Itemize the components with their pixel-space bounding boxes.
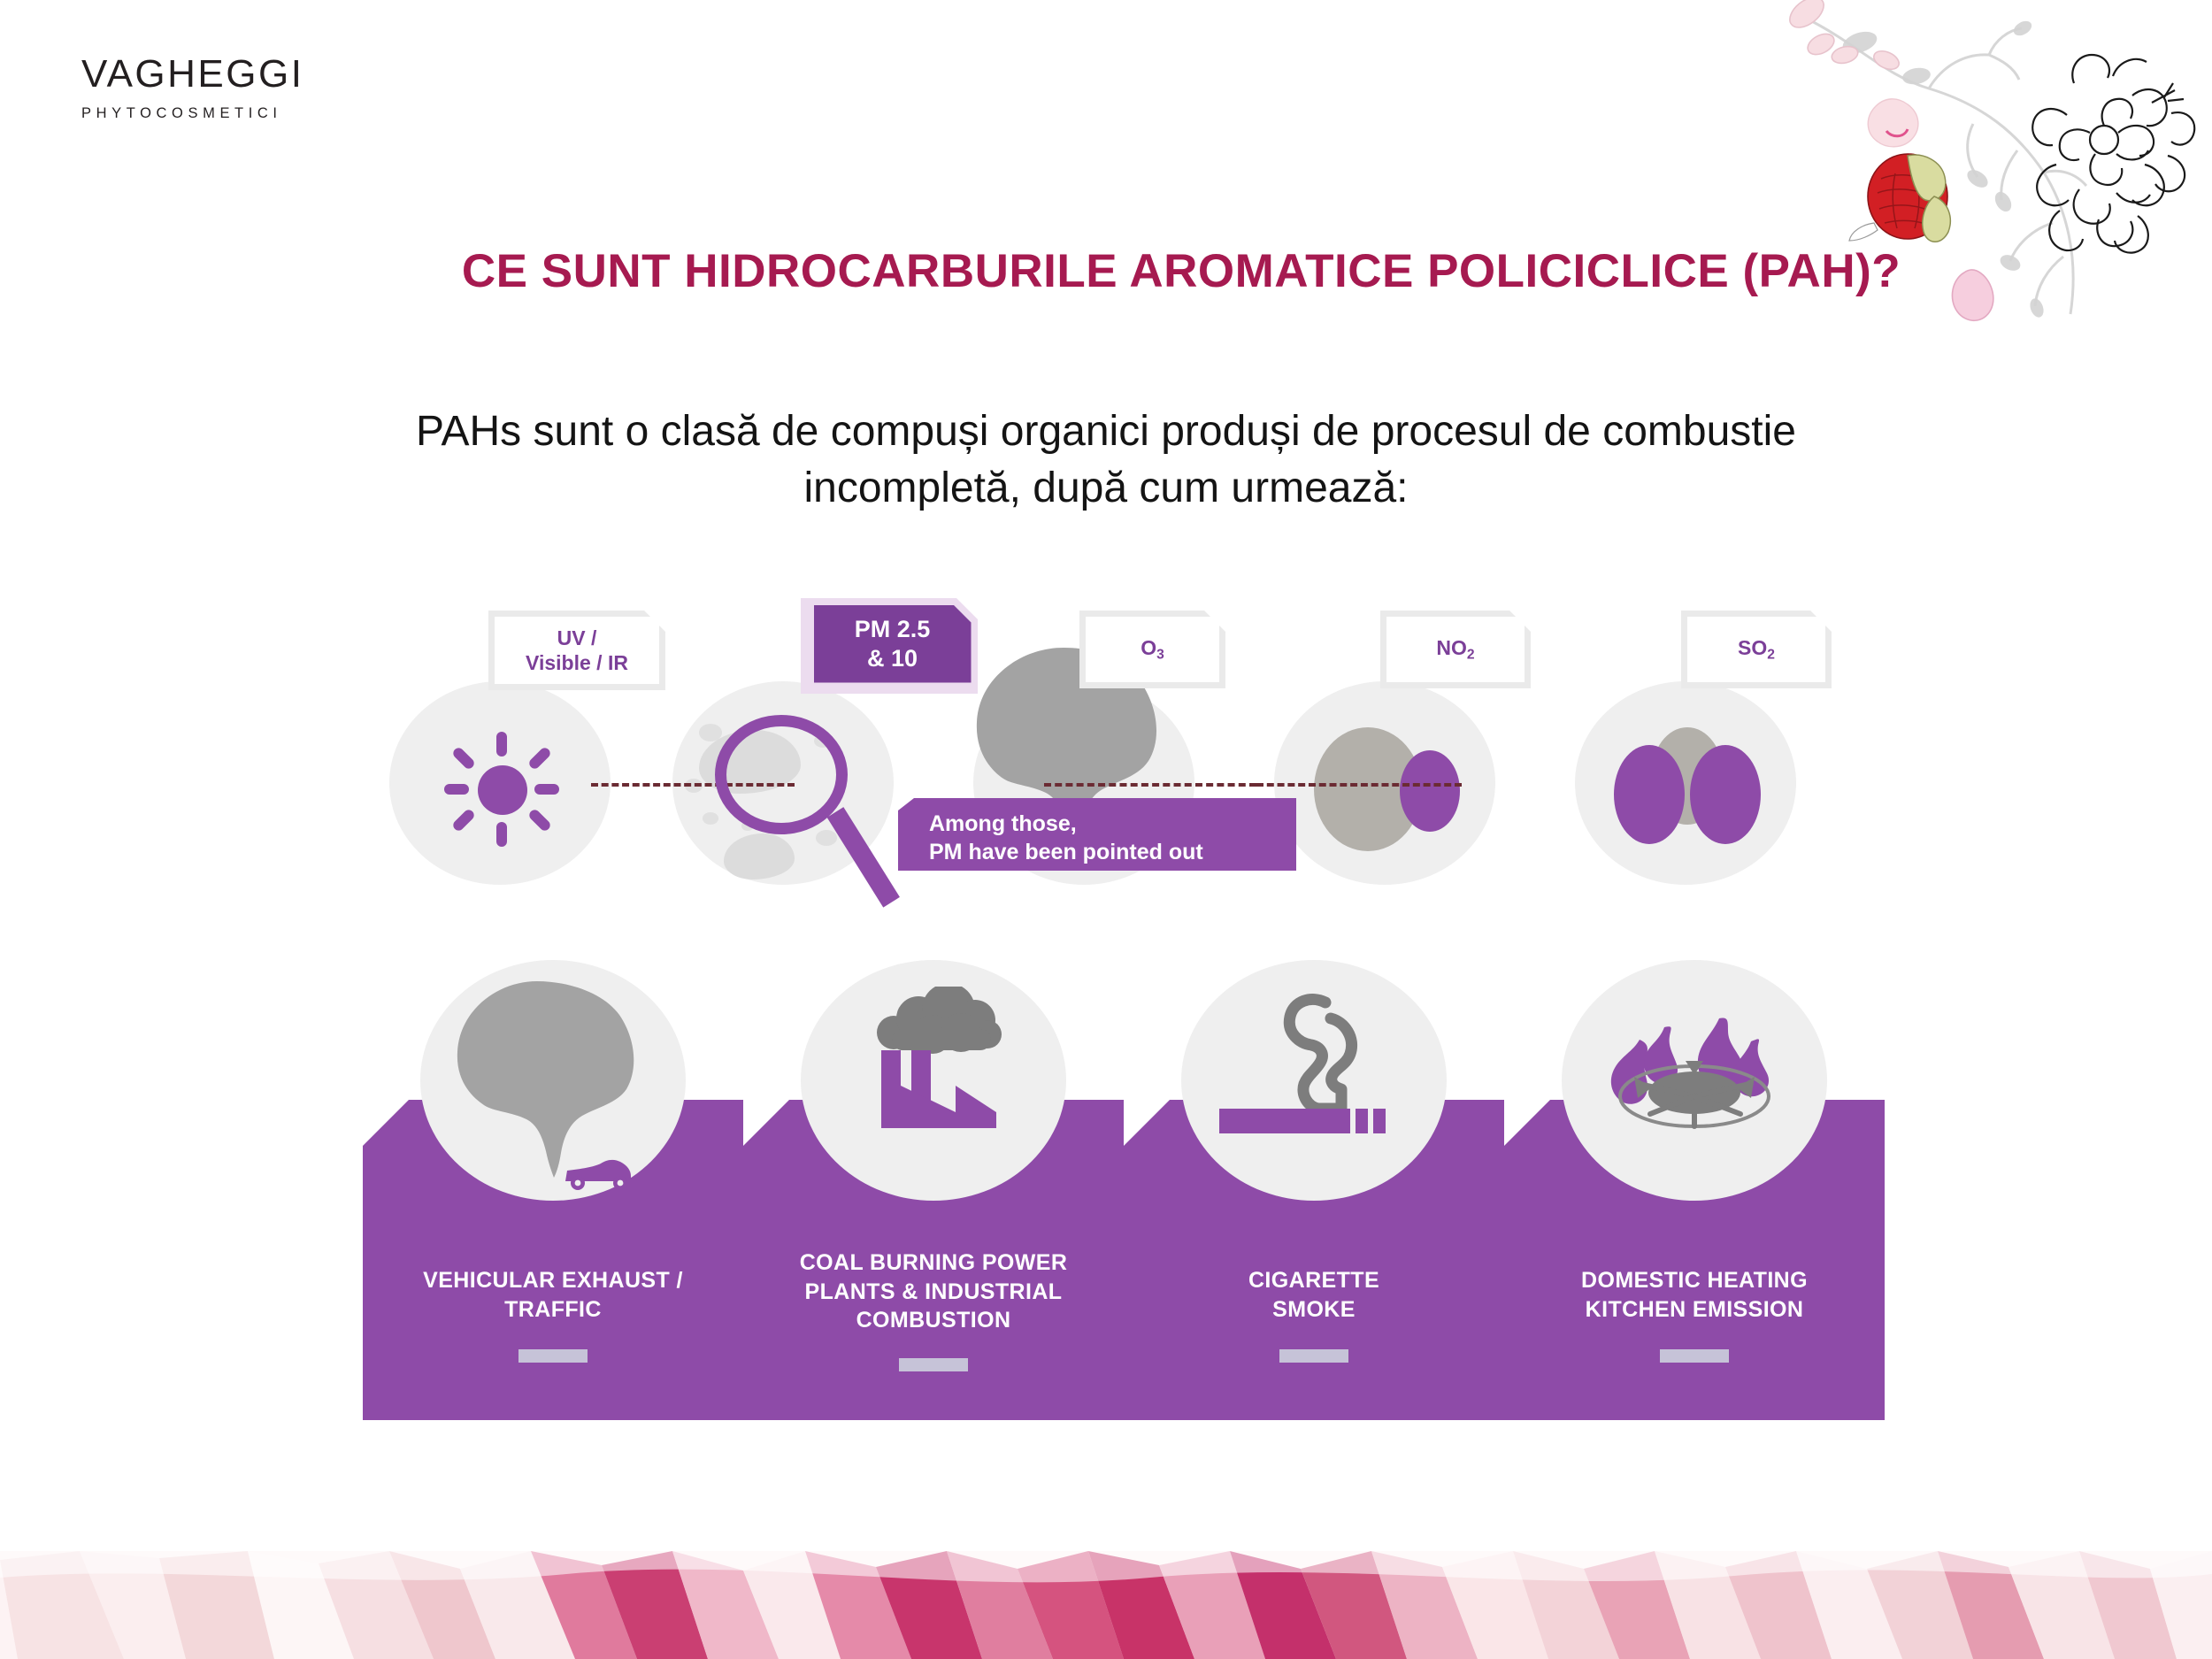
gas-burner-icon bbox=[1588, 992, 1801, 1169]
card-label-line3: COMBUSTION bbox=[856, 1308, 1011, 1333]
bottom-watercolor-band bbox=[0, 1551, 2212, 1659]
pollutant-label-line2: & 10 bbox=[867, 645, 918, 672]
source-cards-row: VEHICULAR EXHAUST / TRAFFIC bbox=[363, 960, 1885, 1349]
card-label-line1: DOMESTIC HEATING bbox=[1581, 1268, 1808, 1293]
pollutant-label-sub: 3 bbox=[1156, 648, 1164, 663]
card-label-line2: PLANTS & INDUSTRIAL bbox=[805, 1279, 1063, 1304]
source-card-cigarette-smoke[interactable]: CIGARETTE SMOKE bbox=[1124, 1100, 1504, 1420]
pollutant-label-no2: NO2 bbox=[1380, 611, 1531, 688]
card-rule bbox=[518, 1349, 588, 1363]
pm-callout-box: Among those, PM have been pointed out bbox=[898, 798, 1296, 871]
pollutant-no2[interactable]: NO2 bbox=[1265, 611, 1504, 902]
card-rule bbox=[1279, 1349, 1348, 1363]
pollutant-label-line1: UV / bbox=[557, 626, 597, 649]
pollutant-label-base: NO bbox=[1436, 636, 1467, 659]
card-rule bbox=[1660, 1349, 1729, 1363]
brand-name: VAGHEGGI bbox=[81, 55, 303, 94]
card-label-line1: VEHICULAR EXHAUST / bbox=[423, 1268, 683, 1293]
brand-logo: VAGHEGGI PHYTOCOSMETICI bbox=[81, 55, 303, 122]
pollutant-uv[interactable]: UV / Visible / IR bbox=[380, 611, 619, 902]
card-rule bbox=[899, 1358, 968, 1371]
pollutant-label-o3: O3 bbox=[1079, 611, 1225, 688]
callout-line2: PM have been pointed out bbox=[929, 840, 1203, 864]
car-smog-icon bbox=[438, 974, 668, 1195]
card-label: COAL BURNING POWER PLANTS & INDUSTRIAL C… bbox=[743, 1248, 1124, 1335]
pollutant-so2[interactable]: SO2 bbox=[1566, 611, 1805, 902]
source-card-vehicular-exhaust[interactable]: VEHICULAR EXHAUST / TRAFFIC bbox=[363, 1100, 743, 1420]
pollutant-label-sub: 2 bbox=[1767, 648, 1775, 663]
pollutant-label-base: O bbox=[1141, 636, 1156, 659]
magnifier-icon bbox=[715, 715, 848, 834]
card-label-line2: TRAFFIC bbox=[504, 1297, 602, 1322]
page-title: CE SUNT HIDROCARBURILE AROMATICE POLICIC… bbox=[0, 244, 2212, 298]
particle-speck bbox=[703, 812, 718, 825]
factory-icon bbox=[841, 987, 1026, 1172]
card-label: VEHICULAR EXHAUST / TRAFFIC bbox=[363, 1266, 743, 1324]
particle-speck bbox=[816, 830, 837, 846]
molecule-atom bbox=[1690, 745, 1761, 844]
pollutant-label-so2: SO2 bbox=[1681, 611, 1832, 688]
card-label-line1: CIGARETTE bbox=[1248, 1268, 1379, 1293]
pollutant-label-line2: Visible / IR bbox=[526, 651, 628, 674]
card-label-line2: SMOKE bbox=[1272, 1297, 1356, 1322]
source-card-domestic-heating[interactable]: DOMESTIC HEATING KITCHEN EMISSION bbox=[1504, 1100, 1885, 1420]
molecule-atom bbox=[1614, 745, 1685, 844]
particle-speck bbox=[699, 724, 722, 741]
card-label: DOMESTIC HEATING KITCHEN EMISSION bbox=[1504, 1266, 1885, 1324]
brand-subtitle: PHYTOCOSMETICI bbox=[81, 105, 303, 122]
molecule-atom bbox=[1400, 750, 1460, 832]
callout-line1: Among those, bbox=[929, 811, 1077, 836]
source-card-coal-power-plants[interactable]: COAL BURNING POWER PLANTS & INDUSTRIAL C… bbox=[743, 1100, 1124, 1420]
pollutant-pm[interactable]: PM 2.5 & 10 bbox=[664, 611, 902, 902]
cigarette-icon bbox=[1212, 983, 1416, 1169]
dash-connector-2 bbox=[1044, 783, 1256, 787]
intro-paragraph: PAHs sunt o clasă de compuși organici pr… bbox=[327, 403, 1885, 517]
pollutant-label-base: SO bbox=[1738, 636, 1767, 659]
pollutant-label-pm: PM 2.5 & 10 bbox=[801, 598, 978, 694]
sun-icon bbox=[444, 732, 559, 847]
pollutant-label-sub: 2 bbox=[1467, 648, 1475, 663]
pollutant-label-uv: UV / Visible / IR bbox=[488, 611, 665, 690]
card-label-line1: COAL BURNING POWER bbox=[800, 1250, 1068, 1275]
card-label-line2: KITCHEN EMISSION bbox=[1586, 1297, 1804, 1322]
card-label: CIGARETTE SMOKE bbox=[1124, 1266, 1504, 1324]
pollutant-label-line1: PM 2.5 bbox=[855, 616, 931, 642]
dash-connector-3 bbox=[1256, 783, 1462, 787]
